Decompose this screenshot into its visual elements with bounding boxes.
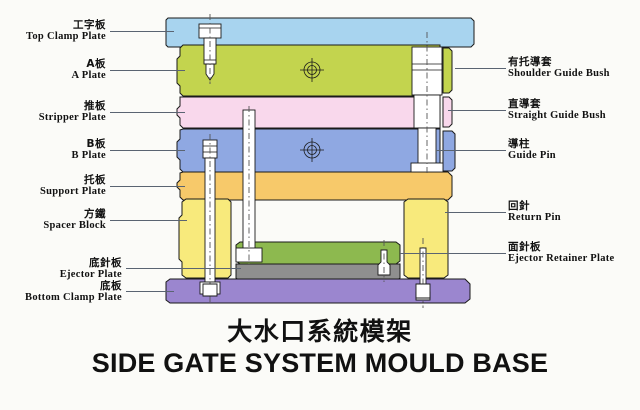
- page-title-english: SIDE GATE SYSTEM MOULD BASE: [0, 348, 640, 379]
- label-en: Top Clamp Plate: [26, 31, 106, 42]
- label-a-plate: A板 A Plate: [72, 59, 106, 81]
- label-top-clamp-plate: 工字板 Top Clamp Plate: [26, 20, 106, 42]
- plate-support: [177, 172, 452, 200]
- label-en: Return Pin: [508, 212, 561, 223]
- leader-ejector-retainer-plate: [400, 253, 506, 254]
- label-stripper-plate: 推板 Stripper Plate: [39, 101, 106, 123]
- plate-stripper: [177, 97, 440, 128]
- label-en: Support Plate: [40, 186, 106, 197]
- label-en: Bottom Clamp Plate: [25, 292, 122, 303]
- label-en: Spacer Block: [43, 220, 106, 231]
- plate-b-right-wing: [443, 131, 455, 171]
- label-shoulder-guide-bush: 有托導套 Shoulder Guide Bush: [508, 57, 610, 79]
- label-cn: 方鐵: [43, 209, 106, 220]
- label-cn: 底板: [25, 281, 122, 292]
- label-ejector-plate: 底針板 Ejector Plate: [60, 258, 122, 280]
- leader-straight-guide-bush: [448, 110, 506, 111]
- label-cn: 面針板: [508, 242, 615, 253]
- label-en: Shoulder Guide Bush: [508, 68, 610, 79]
- label-cn: 推板: [39, 101, 106, 112]
- leader-top-clamp-plate: [110, 31, 174, 32]
- label-en: Ejector Plate: [60, 269, 122, 280]
- label-en: Ejector Retainer Plate: [508, 253, 615, 264]
- leader-return-pin: [445, 212, 506, 213]
- label-spacer-block: 方鐵 Spacer Block: [43, 209, 106, 231]
- bottom-screw-right: [416, 284, 430, 298]
- label-cn: B板: [72, 139, 106, 150]
- mould-base-diagram: .o{stroke:#1a1a1a;stroke-width:1;} .thin…: [0, 0, 640, 410]
- plate-a-right-wing: [443, 48, 452, 93]
- leader-stripper-plate: [110, 112, 185, 113]
- label-en: Guide Pin: [508, 150, 556, 161]
- label-straight-guide-bush: 直導套 Straight Guide Bush: [508, 99, 606, 121]
- label-bottom-clamp-plate: 底板 Bottom Clamp Plate: [25, 281, 122, 303]
- label-ejector-retainer-plate: 面針板 Ejector Retainer Plate: [508, 242, 615, 264]
- leader-guide-pin: [436, 150, 506, 151]
- label-guide-pin: 導柱 Guide Pin: [508, 139, 556, 161]
- leader-shoulder-guide-bush: [455, 68, 506, 69]
- bottom-screw-left: [203, 284, 217, 296]
- page-title-chinese: 大水口系統模架: [0, 312, 640, 348]
- label-en: B Plate: [72, 150, 106, 161]
- label-return-pin: 回針 Return Pin: [508, 201, 561, 223]
- label-support-plate: 托板 Support Plate: [40, 175, 106, 197]
- leader-a-plate: [110, 70, 185, 71]
- label-en: A Plate: [72, 70, 106, 81]
- label-cn: 回針: [508, 201, 561, 212]
- leader-ejector-plate: [126, 268, 241, 269]
- label-cn: 導柱: [508, 139, 556, 150]
- label-cn: 有托導套: [508, 57, 610, 68]
- leader-spacer-block: [110, 220, 187, 221]
- leader-bottom-clamp-plate: [126, 291, 174, 292]
- plate-stripper-right-wing: [443, 97, 452, 127]
- label-cn: 托板: [40, 175, 106, 186]
- label-cn: 底針板: [60, 258, 122, 269]
- label-cn: 工字板: [26, 20, 106, 31]
- label-en: Straight Guide Bush: [508, 110, 606, 121]
- label-cn: A板: [72, 59, 106, 70]
- label-b-plate: B板 B Plate: [72, 139, 106, 161]
- plate-ejector: [236, 264, 400, 281]
- leader-support-plate: [110, 186, 185, 187]
- label-cn: 直導套: [508, 99, 606, 110]
- label-en: Stripper Plate: [39, 112, 106, 123]
- leader-b-plate: [110, 150, 185, 151]
